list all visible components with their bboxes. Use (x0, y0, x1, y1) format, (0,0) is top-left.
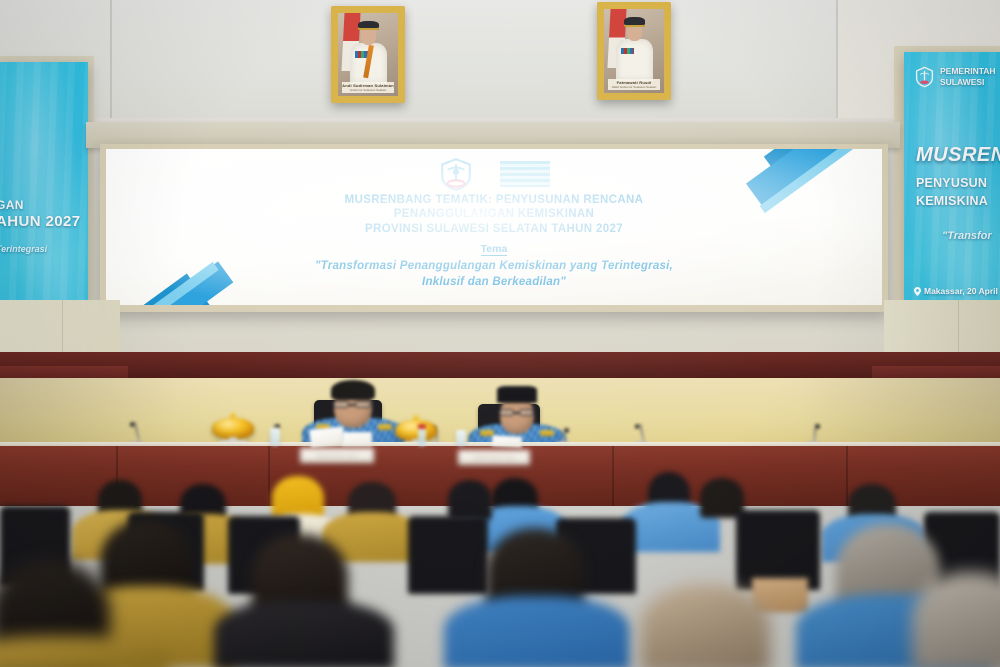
speaker-glasses (333, 401, 349, 408)
audience-shoulders-foreground (214, 600, 394, 667)
right-banner-sub-line2: KEMISKINA (916, 192, 988, 210)
meeting-hall-photo: Andi Sudirman Sulaiman Gubernur Sulawesi… (0, 0, 1000, 667)
portrait-peci-cap (624, 17, 644, 26)
table-panel-seam (612, 446, 614, 506)
sulsel-emblem-logo-icon (914, 66, 935, 88)
screen-logo-row (106, 157, 882, 191)
audience-shoulders-foreground (444, 596, 630, 667)
presidium-nameplate: Pejabat Pemprov Sulsel (300, 448, 374, 463)
screen-title-line-3: PROVINSI SULAWESI SELATAN TAHUN 2027 (106, 222, 882, 236)
projection-screen-frame: MUSRENBANG TEMATIK: PENYUSUNAN RENCANA P… (100, 144, 888, 312)
audience-member-foreground (640, 584, 770, 667)
water-bottle (418, 424, 426, 446)
portrait-image: Andi Sudirman Sulaiman Gubernur Sulawesi… (338, 13, 398, 96)
speaker-glasses (355, 401, 371, 408)
portrait-caption-plate: Andi Sudirman Sulaiman Gubernur Sulawesi… (342, 82, 395, 93)
screen-title-line-2: PENANGGULANGAN KEMISKINAN (106, 207, 882, 221)
lamp-dome (212, 418, 254, 439)
striped-logo-icon (500, 161, 550, 187)
right-banner-location-text: Makassar, 20 April (924, 286, 998, 296)
screen-text-block: MUSRENBANG TEMATIK: PENYUSUNAN RENCANA P… (106, 193, 882, 289)
sulsel-emblem-logo-icon (438, 157, 474, 191)
water-glass (270, 428, 280, 446)
assistant-glasses (499, 409, 514, 416)
portrait-caption-title: Wakil Gubernur Sulawesi Selatan (608, 86, 661, 90)
assistant-glasses-bridge (514, 412, 519, 414)
location-pin-icon (914, 287, 921, 296)
lamp-dome (395, 420, 437, 441)
presidium-nameplate: Pejabat Pemprov Sulsel (458, 450, 530, 465)
left-banner-line1: GAN (0, 198, 88, 212)
mic-head (816, 424, 820, 429)
wall-seam (836, 0, 838, 120)
portrait-caption-plate: Fatmawati Rusdi Wakil Gubernur Sulawesi … (608, 79, 661, 90)
audience-shoulders-foreground (0, 636, 170, 667)
mic-head (130, 422, 134, 427)
screen-title-line-1: MUSRENBANG TEMATIK: PENYUSUNAN RENCANA (106, 193, 882, 207)
portrait-peci-cap (358, 21, 378, 30)
speaker-epaulette (378, 424, 392, 430)
mic-head (635, 424, 639, 429)
audience-member-korpri (448, 480, 492, 520)
portrait-caption-name: Andi Sudirman Sulaiman (342, 82, 395, 89)
screen-theme-line-2: Inklusif dan Berkeadilan" (106, 275, 882, 289)
right-banner-title: MUSREN (916, 144, 1000, 167)
portrait-image: Fatmawati Rusdi Wakil Gubernur Sulawesi … (604, 9, 664, 93)
left-banner-text: GAN AHUN 2027 Terintegrasi (0, 198, 88, 254)
portrait-frame-governor: Andi Sudirman Sulaiman Gubernur Sulawesi… (331, 6, 405, 103)
bottle-cap (418, 424, 426, 429)
assistant-songkok-cap (497, 386, 537, 403)
portrait-uniform (616, 39, 653, 81)
table-panel-seam (268, 446, 270, 506)
govt-line-1: PEMERINTAH (940, 66, 996, 77)
right-banner-header: PEMERINTAH SULAWESI (914, 66, 996, 88)
speaker-documents (342, 432, 372, 446)
audience-seat-back (408, 516, 488, 594)
screen-tema-label: Tema (481, 243, 508, 256)
right-banner-sub-line1: PENYUSUN (916, 174, 988, 192)
left-banner-line3: Terintegrasi (0, 244, 88, 254)
mic-stem (639, 424, 644, 442)
table-panel-seam (846, 446, 848, 506)
nameplate-text: Pejabat Pemprov Sulsel (316, 454, 358, 458)
speaker-glasses-bridge (349, 404, 355, 406)
mic-stem (133, 422, 139, 442)
assistant-epaulette (540, 430, 554, 436)
water-glass (456, 430, 466, 446)
speaker-documents (309, 426, 345, 447)
speaker-hair (331, 380, 375, 400)
right-banner-location: Makassar, 20 April (914, 286, 998, 296)
left-banner-line2: AHUN 2027 (0, 213, 88, 230)
right-led-banner: PEMERINTAH SULAWESI MUSREN PENYUSUN KEMI… (904, 52, 1000, 342)
projection-screen: MUSRENBANG TEMATIK: PENYUSUNAN RENCANA P… (106, 149, 882, 305)
wall-seam (110, 0, 112, 120)
maroon-beam (0, 352, 1000, 380)
portrait-caption-name: Fatmawati Rusdi (608, 79, 661, 86)
assistant-glasses (519, 409, 534, 416)
screen-theme-line-1: "Transformasi Penanggulangan Kemiskinan … (106, 259, 882, 273)
right-banner-govt-text: PEMERINTAH SULAWESI (940, 66, 996, 88)
portrait-caption-title: Gubernur Sulawesi Selatan (342, 89, 395, 93)
left-led-banner: GAN AHUN 2027 Terintegrasi (0, 62, 88, 340)
portrait-frame-vice-governor: Fatmawati Rusdi Wakil Gubernur Sulawesi … (597, 2, 671, 100)
nameplate-text: Pejabat Pemprov Sulsel (473, 456, 515, 460)
right-banner-theme: "Transfor (942, 230, 992, 242)
assistant-documents (492, 435, 523, 448)
portrait-medals (621, 48, 634, 55)
govt-line-2: SULAWESI (940, 77, 996, 88)
mic-head (565, 428, 569, 433)
right-banner-subtitle: PENYUSUN KEMISKINA (916, 174, 988, 210)
